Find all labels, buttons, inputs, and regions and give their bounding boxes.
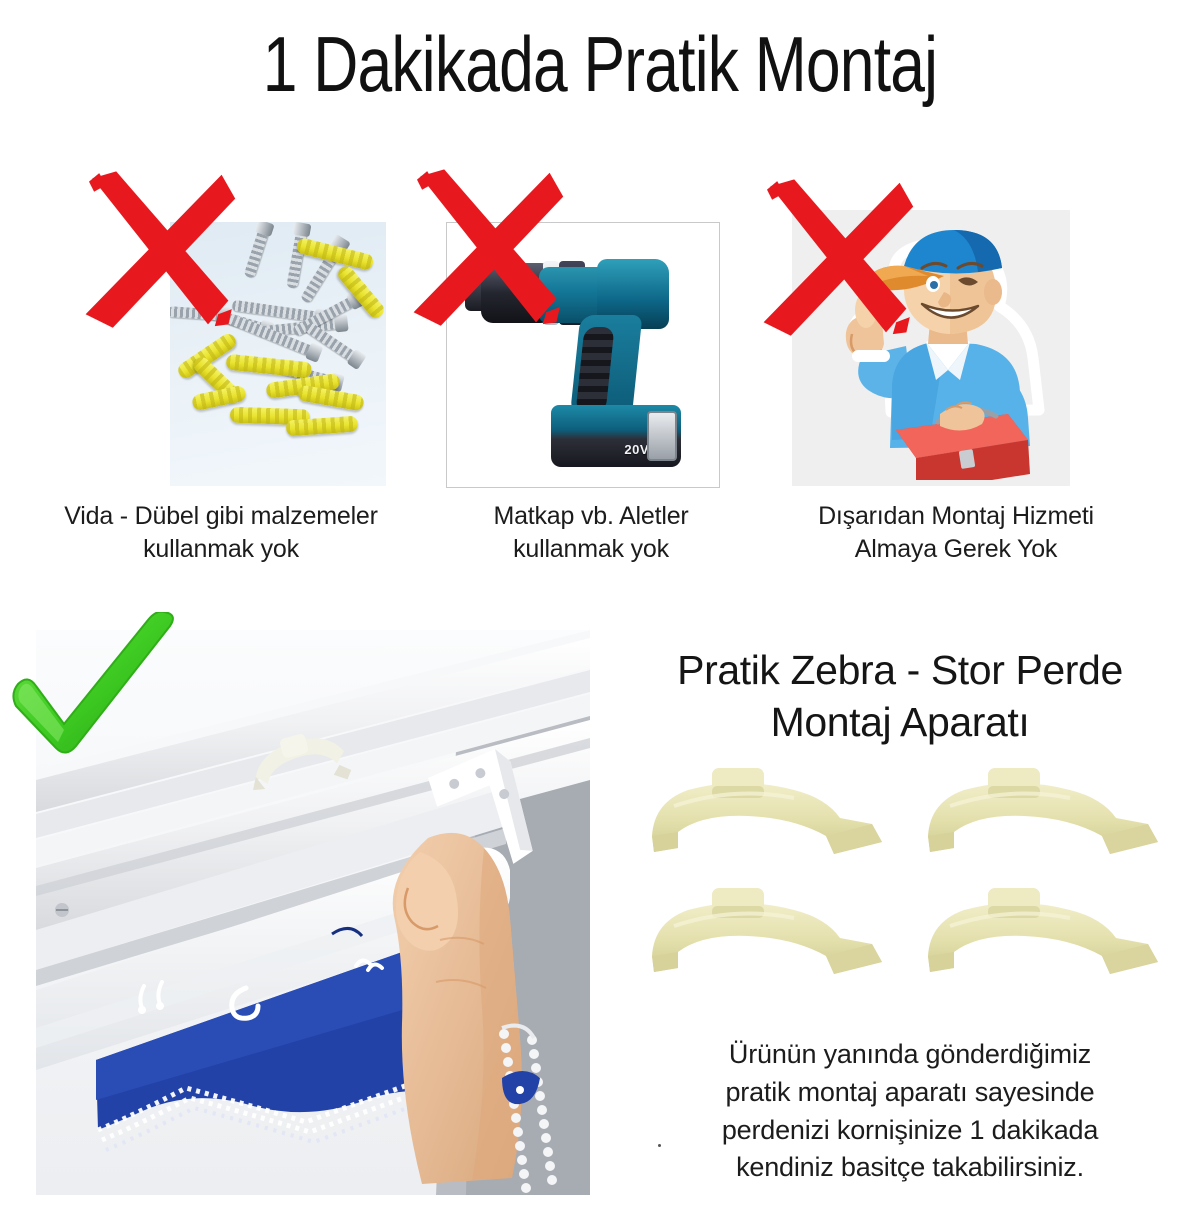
product-description: Ürünün yanında gönderdiğimiz pratik mont… bbox=[630, 1036, 1190, 1187]
product-heading: Pratik Zebra - Stor Perde Montaj Aparatı bbox=[600, 644, 1200, 749]
no-item-drill: 20V Matkap vb. Aletler kullanmak yok bbox=[406, 200, 776, 500]
screws-illustration bbox=[170, 222, 386, 486]
screws-and-wall-plugs-photo bbox=[170, 222, 386, 486]
mounting-clip bbox=[644, 882, 894, 994]
mounting-clip-icon bbox=[920, 882, 1170, 994]
caption-line-1: Dışarıdan Montaj Hizmeti bbox=[756, 500, 1156, 533]
cordless-drill-photo: 20V bbox=[446, 222, 720, 488]
battery-belt-clip bbox=[647, 411, 677, 461]
green-check-icon bbox=[8, 612, 178, 762]
mounting-clip-icon bbox=[644, 882, 894, 994]
drill-illustration: 20V bbox=[447, 223, 719, 487]
heading-line-1: Pratik Zebra - Stor Perde bbox=[600, 644, 1200, 696]
no-item-caption: Matkap vb. Aletler kullanmak yok bbox=[406, 500, 776, 567]
no-item-screws: Vida - Dübel gibi malzemeler kullanmak y… bbox=[36, 200, 406, 500]
mounting-clip bbox=[920, 882, 1170, 994]
no-items-row: Vida - Dübel gibi malzemeler kullanmak y… bbox=[0, 200, 1200, 500]
description-line-3: perdenizi kornişinize 1 dakikada bbox=[630, 1112, 1190, 1150]
caption-line-1: Matkap vb. Aletler bbox=[406, 500, 776, 533]
no-item-caption: Dışarıdan Montaj Hizmeti Almaya Gerek Yo… bbox=[756, 500, 1156, 567]
handyman-figure bbox=[800, 218, 1062, 480]
caption-line-2: kullanmak yok bbox=[406, 533, 776, 566]
mounting-clip bbox=[644, 762, 894, 874]
caption-line-2: Almaya Gerek Yok bbox=[756, 533, 1156, 566]
drill-battery: 20V bbox=[551, 405, 681, 467]
handyman-with-toolbox-illustration bbox=[792, 210, 1070, 486]
battery-voltage-label: 20V bbox=[624, 442, 649, 457]
description-line-1: Ürünün yanında gönderdiğimiz bbox=[630, 1036, 1190, 1074]
caption-line-1: Vida - Dübel gibi malzemeler bbox=[36, 500, 406, 533]
mounting-clip bbox=[920, 762, 1170, 874]
mounting-clips-grid bbox=[620, 752, 1180, 1002]
caption-line-2: kullanmak yok bbox=[36, 533, 406, 566]
mounting-clip-icon bbox=[920, 762, 1170, 874]
stray-dot-artifact bbox=[658, 1144, 661, 1147]
no-item-caption: Vida - Dübel gibi malzemeler kullanmak y… bbox=[36, 500, 406, 567]
no-item-service: Dışarıdan Montaj Hizmeti Almaya Gerek Yo… bbox=[756, 200, 1156, 500]
description-line-4: kendiniz basitçe takabilirsiniz. bbox=[630, 1149, 1190, 1187]
handyman-scene bbox=[792, 210, 1070, 486]
heading-line-2: Montaj Aparatı bbox=[600, 696, 1200, 748]
mounting-clip-icon bbox=[644, 762, 894, 874]
description-line-2: pratik montaj aparatı sayesinde bbox=[630, 1074, 1190, 1112]
page-title: 1 Dakikada Pratik Montaj bbox=[120, 0, 1080, 106]
